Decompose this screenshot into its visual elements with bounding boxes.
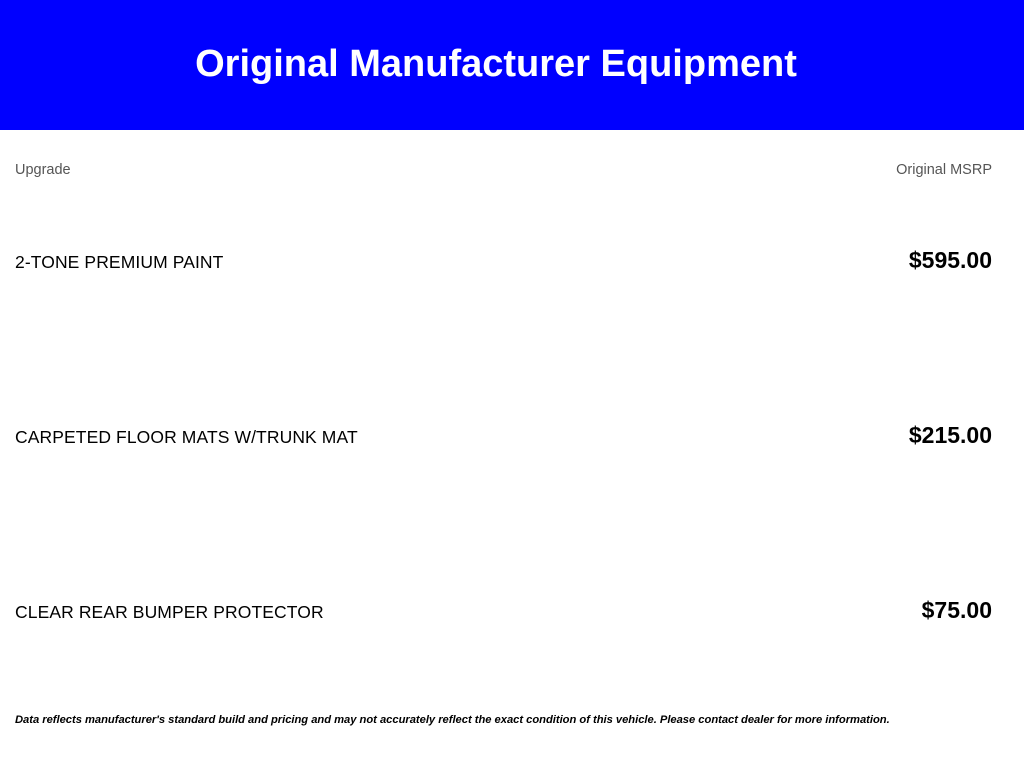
equipment-name: CLEAR REAR BUMPER PROTECTOR [15,594,324,630]
table-row: CLEAR REAR BUMPER PROTECTOR $75.00 [15,592,992,628]
oem-equipment-page: Original Manufacturer Equipment Upgrade … [0,0,1024,768]
page-header-banner: Original Manufacturer Equipment [0,0,1024,130]
equipment-name: CARPETED FLOOR MATS W/TRUNK MAT [15,419,358,455]
table-row: CARPETED FLOOR MATS W/TRUNK MAT $215.00 [15,417,992,453]
equipment-price: $595.00 [909,242,992,278]
equipment-table: Upgrade Original MSRP 2-TONE PREMIUM PAI… [0,130,1024,768]
column-header-original-msrp: Original MSRP [896,160,992,180]
column-header-upgrade: Upgrade [15,160,71,180]
table-column-headers: Upgrade Original MSRP [15,160,992,180]
table-row: 2-TONE PREMIUM PAINT $595.00 [15,242,992,278]
equipment-row-list: 2-TONE PREMIUM PAINT $595.00 CARPETED FL… [15,242,992,628]
equipment-name: 2-TONE PREMIUM PAINT [15,244,223,280]
disclaimer-text: Data reflects manufacturer's standard bu… [15,712,992,728]
equipment-price: $215.00 [909,417,992,453]
page-title: Original Manufacturer Equipment [195,44,797,86]
equipment-price: $75.00 [922,592,992,628]
